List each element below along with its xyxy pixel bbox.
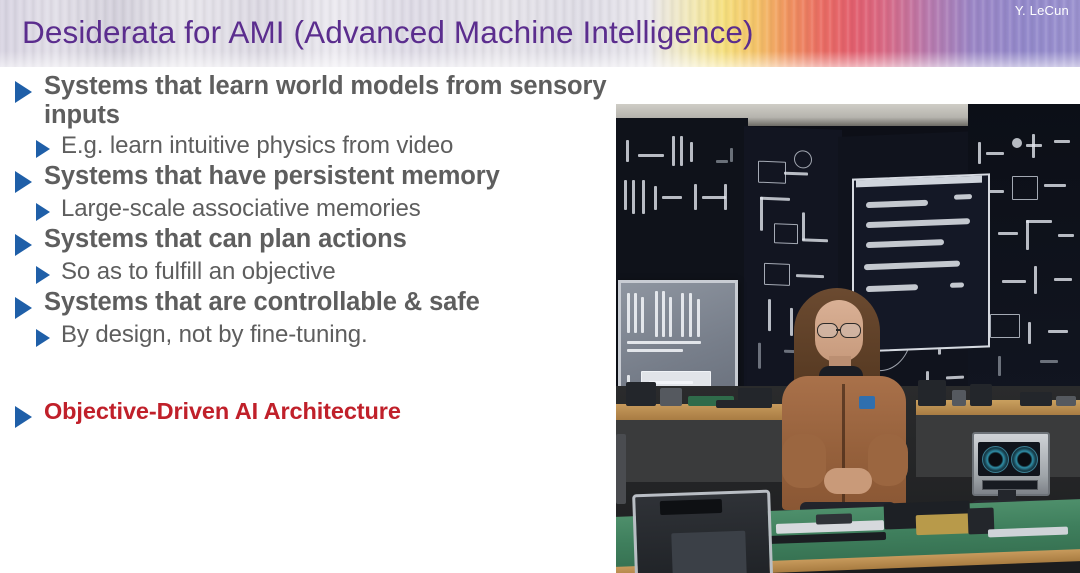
list-item-label: So as to fulfill an objective [61, 257, 336, 287]
robot-label-strip [982, 480, 1038, 490]
robot-camera-eye-right [1011, 446, 1038, 473]
lab-scene-photo [616, 104, 1080, 573]
triangle-bullet-icon [36, 203, 50, 221]
list-item: Systems that have persistent memory [0, 162, 612, 193]
glasses-right-lens [840, 323, 861, 338]
person-right-arm [868, 434, 908, 486]
list-item: E.g. learn intuitive physics from video [0, 131, 612, 161]
equipment-item [952, 390, 966, 406]
list-item: By design, not by fine-tuning. [0, 320, 612, 350]
equipment-item [1020, 392, 1052, 406]
list-item: So as to fulfill an objective [0, 257, 612, 287]
triangle-bullet-icon [15, 81, 32, 103]
equipment-item [1056, 396, 1076, 406]
equipment-item [660, 388, 682, 406]
list-item-label: Systems that can plan actions [44, 225, 407, 254]
robot-camera-eye-left [982, 446, 1009, 473]
equipment-item [970, 384, 992, 406]
triangle-bullet-icon [15, 234, 32, 256]
list-item: Large-scale associative memories [0, 194, 612, 224]
triangle-bullet-icon [15, 406, 32, 428]
author-attribution: Y. LeCun [1015, 3, 1069, 18]
bullet-list: Systems that learn world models from sen… [0, 72, 612, 429]
glasses-left-lens [817, 323, 838, 338]
list-item-label: Systems that learn world models from sen… [44, 72, 612, 130]
list-item-label: Systems that are controllable & safe [44, 288, 480, 317]
instrument-front-panel [671, 531, 746, 573]
list-item: Systems that learn world models from sen… [0, 72, 612, 130]
triangle-bullet-icon [36, 140, 50, 158]
person-hands [824, 468, 872, 494]
list-item-label: E.g. learn intuitive physics from video [61, 131, 453, 161]
list-item-label: Systems that have persistent memory [44, 162, 500, 191]
triangle-bullet-icon [15, 297, 32, 319]
person-left-arm [782, 434, 826, 488]
list-item-highlighted: Objective-Driven AI Architecture [0, 397, 612, 428]
glasses-bridge [836, 329, 841, 331]
triangle-bullet-icon [36, 266, 50, 284]
triangle-bullet-icon [15, 171, 32, 193]
header-bottom-fade [0, 51, 1080, 67]
page-title: Desiderata for AMI (Advanced Machine Int… [22, 14, 754, 51]
cable-bundle [616, 434, 626, 504]
equipment-item [918, 380, 946, 406]
equipment-item [716, 400, 772, 408]
list-item-label: Large-scale associative memories [61, 194, 421, 224]
list-item: Systems that can plan actions [0, 225, 612, 256]
triangle-bullet-icon [36, 329, 50, 347]
list-item: Systems that are controllable & safe [0, 288, 612, 319]
list-item-label: By design, not by fine-tuning. [61, 320, 368, 350]
bench-small-part [816, 513, 852, 524]
list-item-label: Objective-Driven AI Architecture [44, 397, 401, 426]
id-badge [859, 396, 875, 409]
equipment-item [626, 382, 656, 406]
instrument-slot [660, 499, 722, 515]
